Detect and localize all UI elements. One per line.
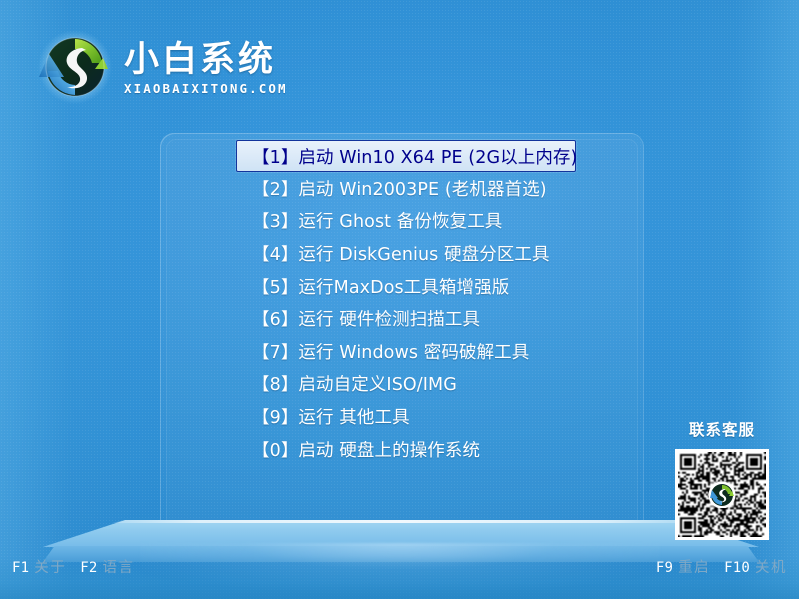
function-key-label: 关机 bbox=[755, 556, 787, 577]
function-key-f9[interactable]: F9重启 bbox=[656, 556, 710, 577]
recycle-arrow-circle-logo-icon bbox=[36, 28, 114, 106]
function-key-name: F1 bbox=[12, 560, 29, 576]
function-key-label: 关于 bbox=[34, 556, 66, 577]
brand-logo-icon bbox=[710, 483, 734, 507]
function-key-name: F10 bbox=[724, 560, 750, 576]
qr-code-icon[interactable] bbox=[675, 449, 769, 540]
function-keys-left: F1关于F2语言 bbox=[12, 556, 135, 577]
boot-menu-item-4[interactable]: 【4】运行 DiskGenius 硬盘分区工具 bbox=[236, 237, 576, 270]
brand-name-cn: 小白系统 bbox=[124, 42, 288, 79]
podium-top-surface bbox=[40, 520, 762, 547]
boot-menu-item-2[interactable]: 【2】启动 Win2003PE (老机器首选) bbox=[236, 172, 576, 205]
brand-logo: 小白系统 XIAOBAIXITONG.COM bbox=[36, 28, 288, 106]
function-key-f1[interactable]: F1关于 bbox=[12, 556, 66, 577]
boot-menu-list[interactable]: 【1】启动 Win10 X64 PE (2G以上内存)【2】启动 Win2003… bbox=[236, 140, 576, 465]
boot-menu-item-1[interactable]: 【1】启动 Win10 X64 PE (2G以上内存) bbox=[236, 140, 576, 172]
boot-menu-item-10[interactable]: 【0】启动 硬盘上的操作系统 bbox=[236, 433, 576, 466]
contact-support-title: 联系客服 bbox=[671, 418, 773, 440]
boot-menu-item-5[interactable]: 【5】运行MaxDos工具箱增强版 bbox=[236, 270, 576, 303]
boot-menu-item-3[interactable]: 【3】运行 Ghost 备份恢复工具 bbox=[236, 205, 576, 238]
podium-top-highlight bbox=[40, 520, 762, 523]
function-key-bar: F1关于F2语言 F9重启F10关机 bbox=[0, 553, 799, 579]
contact-support-block: 联系客服 bbox=[671, 418, 773, 540]
function-key-name: F2 bbox=[80, 560, 97, 576]
boot-menu-screen: 小白系统 XIAOBAIXITONG.COM 【1】启动 Win10 X64 P… bbox=[0, 0, 799, 599]
function-key-label: 语言 bbox=[103, 556, 135, 577]
function-keys-right: F9重启F10关机 bbox=[656, 556, 787, 577]
boot-menu-item-9[interactable]: 【9】运行 其他工具 bbox=[236, 400, 576, 433]
function-key-f2[interactable]: F2语言 bbox=[80, 556, 134, 577]
boot-menu-item-6[interactable]: 【6】运行 硬件检测扫描工具 bbox=[236, 302, 576, 335]
function-key-f10[interactable]: F10关机 bbox=[724, 556, 787, 577]
brand-name-en: XIAOBAIXITONG.COM bbox=[124, 81, 288, 96]
boot-menu-item-7[interactable]: 【7】运行 Windows 密码破解工具 bbox=[236, 335, 576, 368]
boot-menu-item-8[interactable]: 【8】启动自定义ISO/IMG bbox=[236, 368, 576, 401]
function-key-label: 重启 bbox=[678, 556, 710, 577]
function-key-name: F9 bbox=[656, 560, 673, 576]
brand-wordmark: 小白系统 XIAOBAIXITONG.COM bbox=[124, 38, 288, 97]
